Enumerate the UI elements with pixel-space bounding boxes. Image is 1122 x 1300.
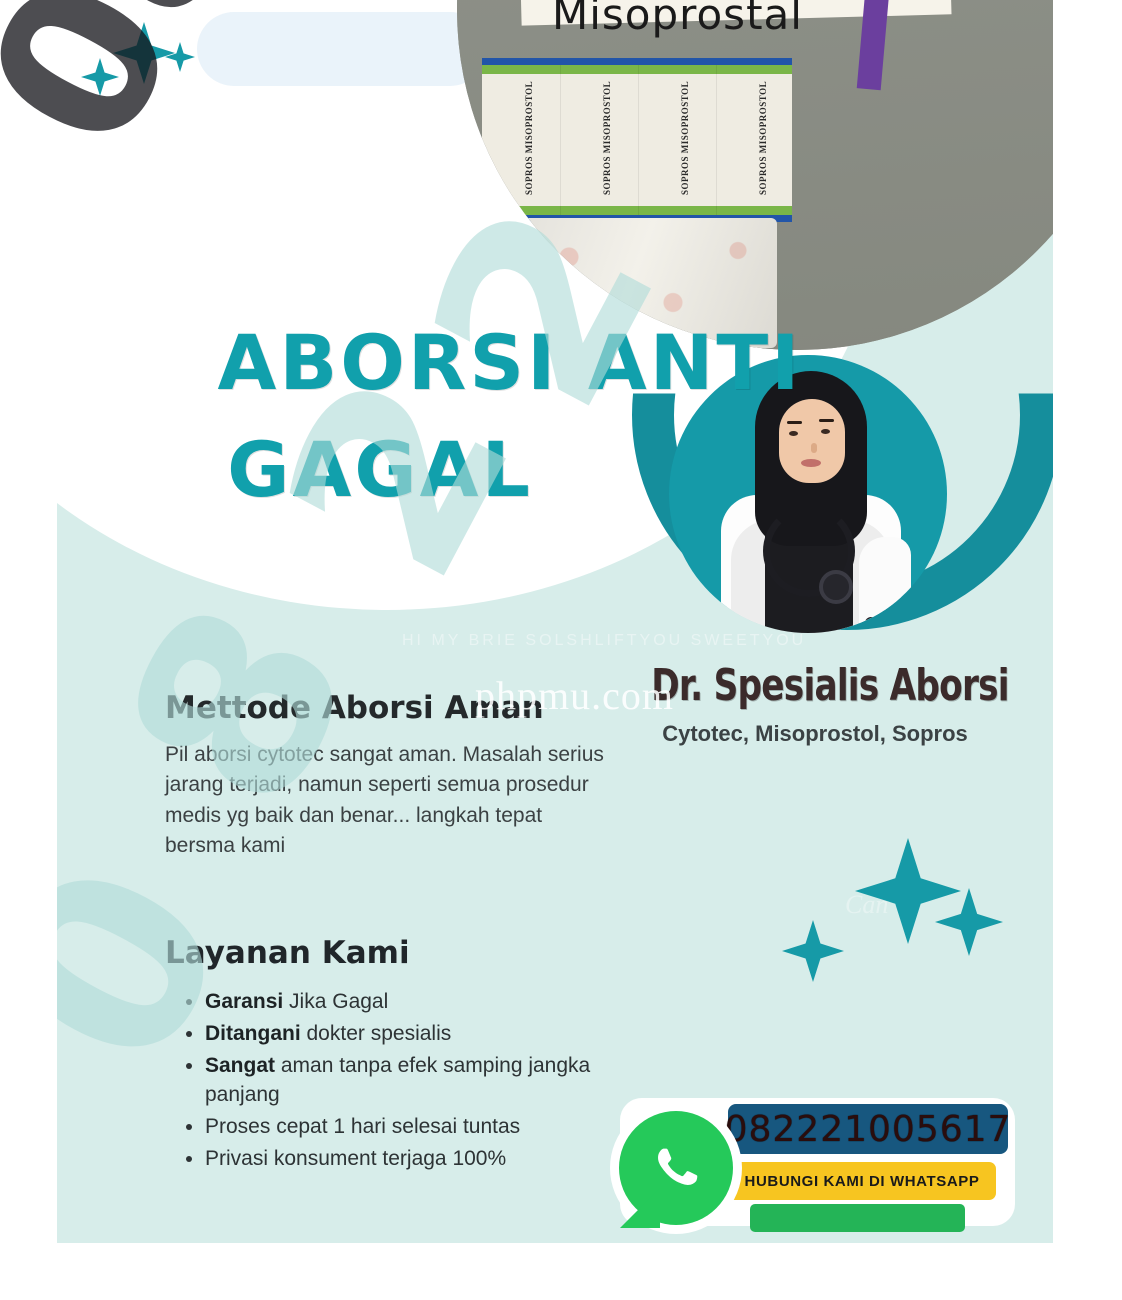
services-list: Garansi Jika GagalDitangani dokter spesi… <box>165 987 625 1174</box>
service-item: Proses cepat 1 hari selesai tuntas <box>205 1112 625 1142</box>
service-item: Garansi Jika Gagal <box>205 987 625 1017</box>
eyebrow <box>819 419 834 422</box>
service-item-strong: Garansi <box>205 990 283 1013</box>
service-item: Ditangani dokter spesialis <box>205 1019 625 1049</box>
method-section: Mettode Aborsi Aman Pil aborsi cytotec s… <box>165 690 605 862</box>
service-item-strong: Sangat <box>205 1054 275 1077</box>
eyebrow <box>787 421 802 424</box>
sparkle-star-icon <box>782 920 844 982</box>
poster-canvas: 0 8 2 2 Misoprostal SOPROS MISOPROSTOL S… <box>57 0 1053 1243</box>
product-photo: Misoprostal SOPROS MISOPROSTOL SOPROS MI… <box>457 0 1053 350</box>
doctor-subtitle: Cytotec, Misoprostol, Sopros <box>605 721 1025 747</box>
headline-line-1: ABORSI ANTI <box>57 318 1008 407</box>
sparkle-star-icon <box>935 888 1003 956</box>
cuff <box>865 617 913 633</box>
service-item: Privasi konsument terjaga 100% <box>205 1144 625 1174</box>
services-section: Layanan Kami Garansi Jika GagalDitangani… <box>165 935 625 1176</box>
method-paragraph: Pil aborsi cytotec sangat aman. Masalah … <box>165 740 605 862</box>
whatsapp-icon[interactable] <box>610 1102 742 1234</box>
stethoscope-head <box>819 570 853 604</box>
whatsapp-cta-banner[interactable]: HUBUNGI KAMI DI WHATSAPP <box>728 1162 996 1200</box>
blister-strip: SOPROS MISOPROSTOL SOPROS MISOPROSTOL SO… <box>482 58 792 222</box>
services-title: Layanan Kami <box>165 935 625 971</box>
doctor-section: Dr. Spesialis Aborsi Cytotec, Misoprosto… <box>605 660 1025 747</box>
phone-number-banner: 082221005617 <box>728 1104 1008 1154</box>
sparkle-star-icon <box>81 58 119 96</box>
method-title: Mettode Aborsi Aman <box>165 690 605 726</box>
service-item-strong: Ditangani <box>205 1022 301 1045</box>
doctor-title: Dr. Spesialis Aborsi <box>651 660 979 711</box>
whatsapp-cta-label: HUBUNGI KAMI DI WHATSAPP <box>745 1173 980 1190</box>
headline-line-2: GAGAL <box>57 425 878 514</box>
light-blue-pill-shape <box>197 12 487 86</box>
service-item: Sangat aman tanpa efek samping jangka pa… <box>205 1051 625 1111</box>
sparkle-star-icon <box>165 42 195 72</box>
green-accent-bar <box>750 1204 965 1232</box>
handwritten-label: Misoprostal <box>552 0 803 39</box>
whatsapp-contact-block[interactable]: 082221005617 HUBUNGI KAMI DI WHATSAPP <box>610 1098 1030 1238</box>
phone-number: 082221005617 <box>725 1109 1012 1150</box>
pack-brand-text: PROSTOL <box>909 0 1034 1</box>
